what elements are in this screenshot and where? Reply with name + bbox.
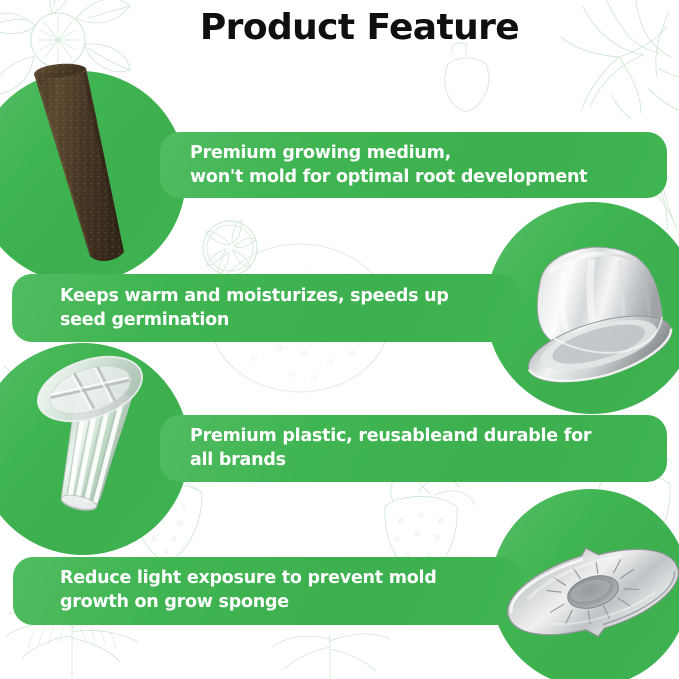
feature-text-light-blocking: Reduce light exposure to prevent mold gr… <box>60 566 510 614</box>
feature-text-warm-moist: Keeps warm and moisturizes, speeds up se… <box>60 284 510 332</box>
page-title-container: Product Feature <box>0 6 679 50</box>
feature-text-premium-plastic: Premium plastic, reusableand durable for… <box>190 424 660 472</box>
product-feature-infographic: Product Feature Premium growing medium, … <box>0 0 679 679</box>
feature-row-light-blocking: Reduce light exposure to prevent mold gr… <box>0 490 679 679</box>
feature-text-growing-medium: Premium growing medium, won't mold for o… <box>190 141 660 189</box>
page-title: Product Feature <box>200 6 519 50</box>
